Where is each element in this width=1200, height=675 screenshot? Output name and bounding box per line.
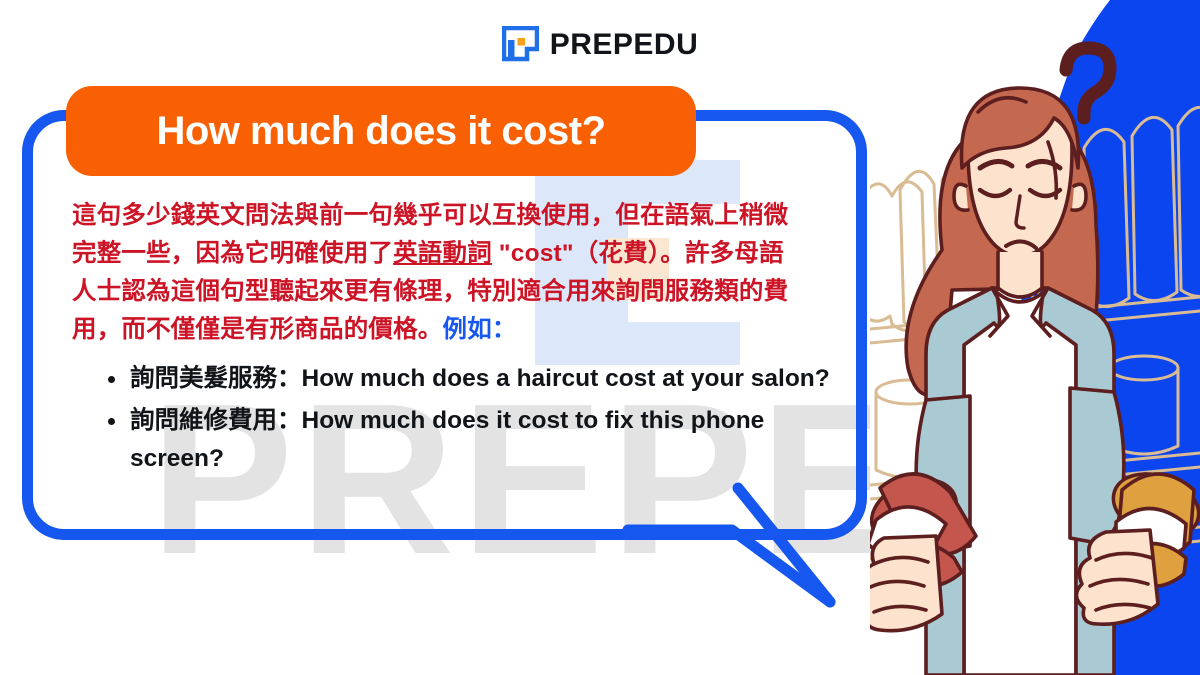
neck [998, 252, 1042, 297]
example-label: 詢問維修費用： [130, 407, 302, 434]
example-sentence: How much does a haircut cost at your sal… [302, 365, 830, 392]
title-banner: How much does it cost? [66, 86, 696, 176]
example-list: 詢問美髮服務：How much does a haircut cost at y… [100, 360, 860, 482]
list-item: 詢問維修費用：How much does it cost to fix this… [100, 402, 860, 478]
ear-right [1072, 184, 1086, 210]
brand-logo[interactable]: PREPEDU [0, 26, 1200, 63]
paragraph-explanation: 這句多少錢英文問法與前一句幾乎可以互換使用，但在語氣上稍微完整一些，因為它明確使… [72, 197, 802, 349]
body-copy: 這句多少錢英文問法與前一句幾乎可以互換使用，但在語氣上稍微完整一些，因為它明確使… [72, 197, 802, 349]
prepedu-logo-icon [502, 26, 539, 63]
hand-right [1076, 530, 1158, 624]
paragraph-tail-example: 例如： [443, 316, 517, 343]
speech-bubble-tail [620, 480, 880, 610]
illustration-confused-woman [870, 0, 1200, 675]
page-title: How much does it cost? [156, 109, 605, 154]
ear-left [954, 184, 968, 210]
hand-left [870, 536, 942, 631]
shirt [964, 288, 1076, 675]
list-item: 詢問美髮服務：How much does a haircut cost at y… [100, 360, 860, 398]
inline-link-english-verb[interactable]: 英語動詞 [393, 240, 492, 267]
example-label: 詢問美髮服務： [130, 365, 302, 392]
brand-wordmark: PREPEDU [550, 28, 699, 62]
arm-right [1070, 388, 1124, 542]
